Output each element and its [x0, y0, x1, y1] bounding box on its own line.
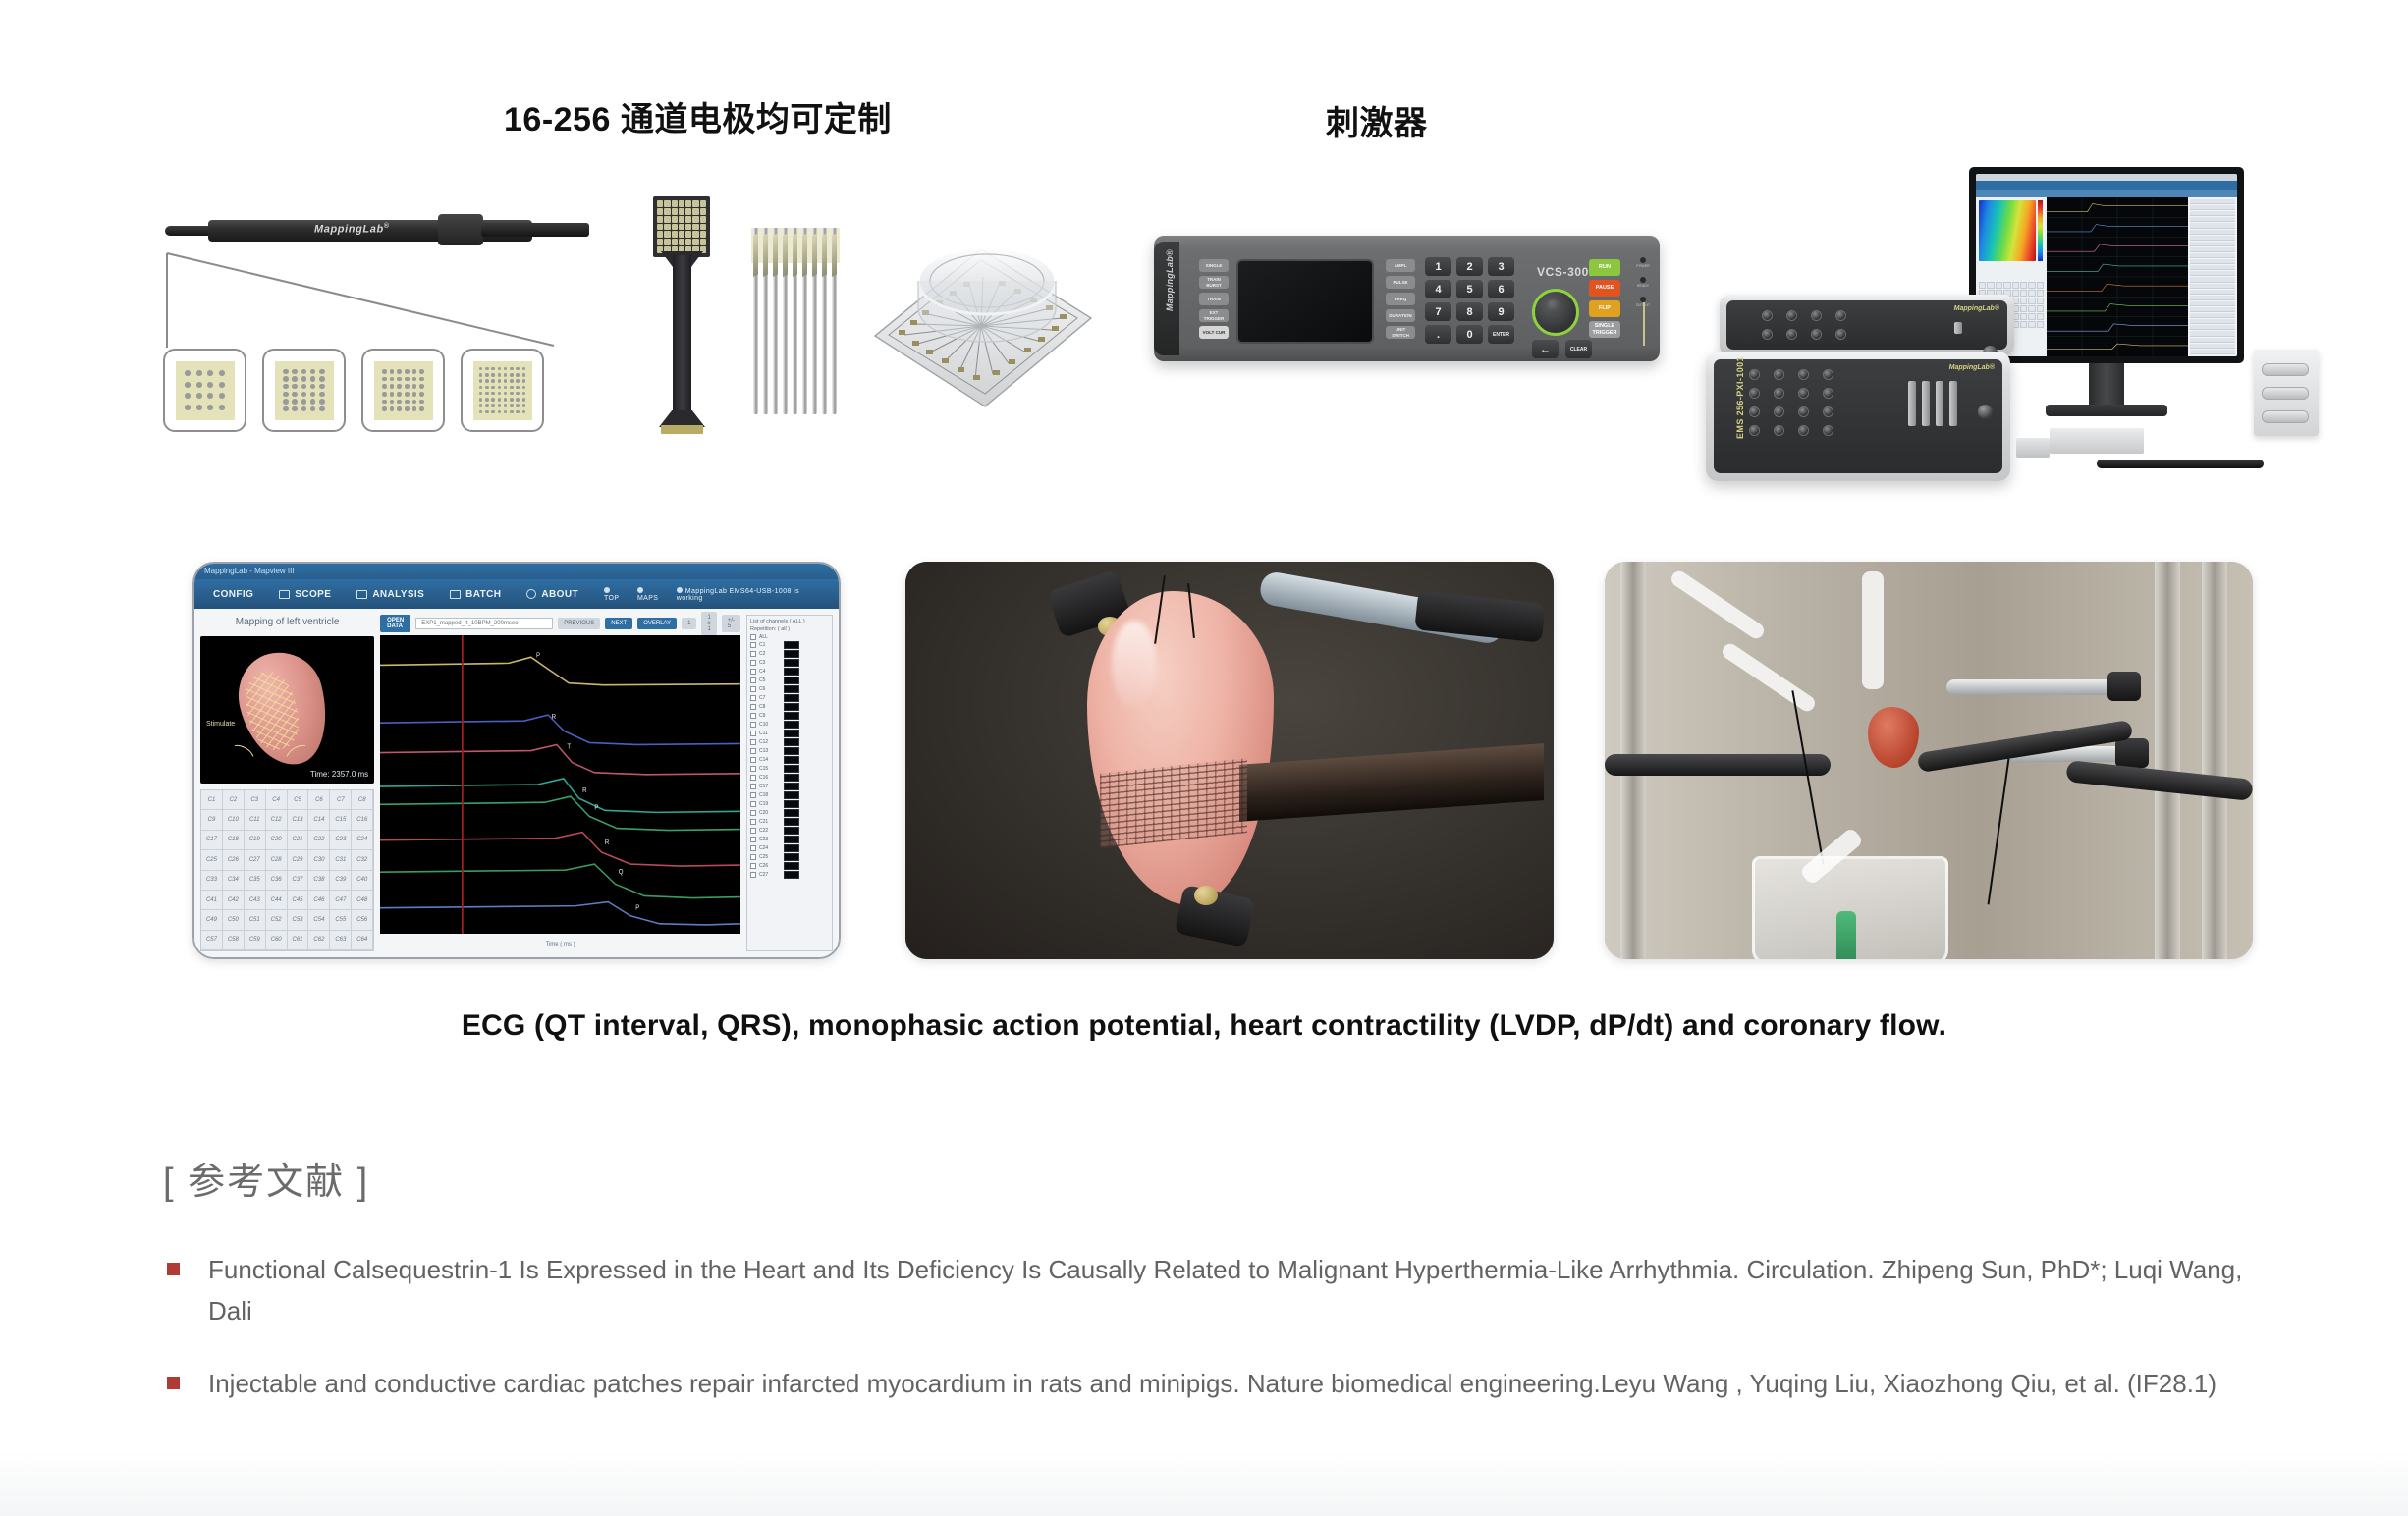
frame-post-right [2155, 562, 2180, 959]
channel-row[interactable]: C23 [750, 836, 829, 843]
grid-channel-cell[interactable]: C53 [288, 910, 309, 930]
checkbox-icon[interactable] [750, 837, 756, 842]
electrode-dot [283, 406, 289, 412]
amplifier-input-port[interactable] [1835, 329, 1846, 340]
software-status-area: TOP MAPS MappingLab EMS64-USB-1008 is wo… [604, 587, 825, 602]
rod-clamp-lower[interactable] [2115, 738, 2149, 768]
array-grid-64 [473, 361, 532, 420]
stimulator-param-button[interactable]: DURATION [1386, 309, 1415, 322]
channel-row[interactable]: C17 [750, 783, 829, 790]
amplifier-top-brand-text: MappingLab [1954, 305, 1995, 312]
isolated-heart-electrode-photo[interactable] [905, 562, 1554, 959]
electrode-dot [292, 384, 298, 390]
next-button[interactable]: NEXT [605, 618, 632, 629]
monitor-body [1976, 197, 2237, 356]
electrode-dot [491, 398, 495, 402]
checkbox-icon[interactable] [750, 757, 756, 763]
amplifier-main-slots [1908, 381, 1957, 426]
grid-channel-cell[interactable]: C47 [330, 891, 352, 910]
clear-button[interactable]: CLEAR [1565, 340, 1592, 358]
amplifier-input-port[interactable] [1823, 388, 1833, 399]
paddle-electrode-dot [679, 200, 684, 207]
monitor-channel-row [2190, 350, 2235, 354]
flexible-electrode-array-on-heart [1100, 758, 1247, 848]
amplifier-input-port[interactable] [1835, 310, 1846, 321]
application-image-row: MappingLab - Mapview III CONFIG SCOPE AN… [0, 562, 2408, 964]
electrode-dot [510, 398, 514, 402]
checkbox-icon[interactable] [750, 784, 756, 789]
stimulator-mode-button[interactable]: TRAIN BURST [1199, 276, 1229, 289]
grid-channel-cell[interactable]: C30 [308, 850, 330, 870]
electrode-dot [516, 392, 520, 396]
monitor-grid-cell [2037, 305, 2044, 312]
lead-marker [223, 740, 259, 774]
channel-row[interactable]: C5 [750, 677, 829, 684]
checkbox-icon[interactable] [750, 766, 756, 772]
stimulator-slider-track[interactable] [1643, 302, 1645, 346]
grid-channel-cell[interactable]: C15 [330, 810, 352, 830]
grid-channel-cell[interactable]: C7 [330, 790, 352, 810]
monitor-grid-cell [2020, 290, 2027, 297]
channel-thumbnail [784, 650, 799, 658]
reference-item: Functional Calsequestrin-1 Is Expressed … [163, 1249, 2284, 1331]
menu-label: SCOPE [295, 589, 331, 600]
amplifier-input-port[interactable] [1774, 388, 1784, 399]
checkbox-icon[interactable] [750, 739, 756, 745]
stimulator-param-button[interactable]: AMPL [1386, 259, 1415, 272]
channel-row[interactable]: C4 [750, 668, 829, 676]
monitor-grid-cell [2020, 298, 2027, 304]
grid-channel-cell[interactable]: C21 [288, 831, 309, 850]
amplifier-input-port[interactable] [1798, 369, 1809, 380]
stimulator-run-button[interactable]: RUN [1589, 259, 1620, 276]
paddle-electrode-dot [657, 231, 663, 238]
checkbox-icon[interactable] [750, 677, 756, 683]
checkbox-icon[interactable] [750, 722, 756, 728]
grid-channel-cell[interactable]: C27 [245, 850, 266, 870]
electrode-dot [516, 379, 520, 383]
grid-channel-cell[interactable]: C9 [201, 810, 223, 830]
grid-channel-cell[interactable]: C37 [288, 871, 309, 891]
channel-row[interactable]: C10 [750, 721, 829, 729]
paddle-electrode-dot [700, 200, 706, 207]
channel-row[interactable]: C12 [750, 738, 829, 746]
grid-channel-cell[interactable]: C55 [330, 910, 352, 930]
grid-channel-cell[interactable]: C41 [201, 891, 223, 910]
software-channel-panel: List of channels ( ALL ) Repetition: ( a… [746, 615, 833, 951]
electrode-dot [510, 373, 514, 377]
checkbox-icon[interactable] [750, 775, 756, 781]
checkbox-icon[interactable] [750, 731, 756, 736]
monitor-traces-svg [2047, 197, 2188, 356]
keypad-key-dot[interactable]: . [1425, 325, 1451, 344]
checkbox-icon[interactable] [750, 854, 756, 860]
grid-channel-cell[interactable]: C48 [352, 891, 373, 910]
amplifier-input-port[interactable] [1749, 406, 1760, 417]
stimulator-single-trigger-button[interactable]: SINGLE TRIGGER [1589, 321, 1620, 338]
time-readout: Time: 2357.0 ms [310, 770, 368, 779]
perfusion-tube-left [1669, 568, 1767, 642]
channel-row[interactable]: C24 [750, 844, 829, 852]
page-value[interactable]: 1 [682, 618, 696, 629]
grid-channel-cell[interactable]: C17 [201, 831, 223, 850]
grid-channel-cell[interactable]: C24 [352, 831, 373, 850]
waveform-plot[interactable]: PRT RPR QP [380, 635, 740, 934]
grid-channel-cell[interactable]: C14 [308, 810, 330, 830]
grid-channel-cell[interactable]: C22 [308, 831, 330, 850]
checkbox-icon[interactable] [750, 651, 756, 657]
grid-channel-cell[interactable]: C18 [223, 831, 245, 850]
grid-channel-cell[interactable]: C25 [201, 850, 223, 870]
channel-thumbnail [784, 703, 799, 711]
checkbox-icon[interactable] [750, 828, 756, 834]
channel-row[interactable]: C8 [750, 703, 829, 711]
needle-electrode [822, 228, 827, 414]
paddle-electrode-dot [692, 208, 698, 215]
menu-item-about[interactable]: ABOUT [526, 589, 578, 600]
rig-photo-scene [1605, 562, 2253, 959]
scale-value[interactable]: 1 x 1 [701, 612, 716, 635]
amplifier-input-port[interactable] [1749, 369, 1760, 380]
electrode-dot [397, 377, 402, 382]
menu-item-scope[interactable]: SCOPE [279, 589, 331, 600]
amplifier-input-port[interactable] [1798, 388, 1809, 399]
keypad-key-8[interactable]: 8 [1456, 302, 1483, 321]
monitor-screen [1976, 174, 2237, 356]
electrode-dot [319, 376, 325, 382]
amplifier-input-port[interactable] [1786, 310, 1797, 321]
grid-channel-cell[interactable]: C19 [245, 831, 266, 850]
paddle-electrode-dot [679, 224, 684, 231]
paddle-electrode-dot [672, 200, 678, 207]
grid-channel-cell[interactable]: C28 [266, 850, 288, 870]
amplifier-input-port[interactable] [1823, 406, 1833, 417]
monitor-grid-cell [2003, 282, 2010, 289]
amplifier-input-port[interactable] [1774, 369, 1784, 380]
stimulator-param-button[interactable]: FREQ [1386, 293, 1415, 305]
grid-channel-cell[interactable]: C42 [223, 891, 245, 910]
array-grid-30 [275, 361, 334, 420]
channel-row[interactable]: C26 [750, 862, 829, 870]
paddle-electrode-dot [672, 216, 678, 223]
checkbox-icon[interactable] [750, 845, 756, 851]
amplifier-input-port[interactable] [1823, 369, 1833, 380]
channel-label: C23 [759, 837, 781, 842]
support-bar-left [1605, 754, 1831, 776]
electrode-array-tile[interactable] [163, 349, 246, 432]
monitor-titlebar [1976, 174, 2237, 181]
rod-clamp-upper[interactable] [2107, 672, 2141, 701]
electrode-dot [397, 400, 402, 405]
electrode-dot [419, 377, 424, 382]
checkbox-icon[interactable] [750, 642, 756, 648]
grid-channel-cell[interactable]: C3 [245, 790, 266, 810]
grid-channel-cell[interactable]: C4 [266, 790, 288, 810]
amplifier-input-port[interactable] [1798, 406, 1809, 417]
channel-row[interactable]: C18 [750, 791, 829, 799]
amplifier-input-port[interactable] [1774, 425, 1784, 436]
open-data-button[interactable]: OPEN DATA [380, 615, 410, 632]
paddle-electrode-dot [685, 239, 691, 245]
langendorff-perfusion-rig-photo[interactable] [1605, 562, 2253, 959]
stimulator-mode-button[interactable]: EXT TRIGGER [1199, 309, 1229, 322]
stimulator-param-button[interactable]: PULSE [1386, 276, 1415, 289]
software-center-panel: OPEN DATA EXP1_mapped_rt_10BPM_200msec P… [380, 615, 740, 951]
grid-channel-cell[interactable]: C39 [330, 871, 352, 891]
checkbox-icon[interactable] [750, 686, 756, 692]
grid-channel-cell[interactable]: C62 [308, 931, 330, 950]
channel-row[interactable]: C1 [750, 641, 829, 649]
amplifier-input-port[interactable] [1823, 425, 1833, 436]
grid-channel-cell[interactable]: C64 [352, 931, 373, 950]
stimulator-jog-dial[interactable] [1532, 289, 1579, 336]
accessory-connector [2262, 410, 2309, 423]
file-path-field[interactable]: EXP1_mapped_rt_10BPM_200msec [415, 618, 553, 629]
menu-item-batch[interactable]: BATCH [450, 589, 501, 600]
stimulator-mode-button[interactable]: TRAIN [1199, 293, 1229, 305]
menu-item-analysis[interactable]: ANALYSIS [356, 589, 424, 600]
channel-checkbox-list[interactable]: ALLC1C2C3C4C5C6C7C8C9C10C11C12C13C14C15C… [750, 634, 829, 879]
channel-row[interactable]: C22 [750, 827, 829, 835]
channel-row[interactable]: C11 [750, 730, 829, 737]
grid-channel-cell[interactable]: C2 [223, 790, 245, 810]
electrode-dot [292, 369, 298, 375]
amplifier-input-port[interactable] [1762, 310, 1773, 321]
grid-channel-cell[interactable]: C60 [266, 931, 288, 950]
amplifier-input-port[interactable] [1786, 329, 1797, 340]
electrode-dot [283, 392, 289, 398]
channel-thumbnail [784, 712, 799, 720]
amplifier-input-port[interactable] [1798, 425, 1809, 436]
checkbox-icon[interactable] [750, 810, 756, 816]
grid-channel-cell[interactable]: C51 [245, 910, 266, 930]
electrode-dot [405, 406, 410, 411]
electrode-array-tile[interactable] [461, 349, 544, 432]
monitor-channel-row [2190, 236, 2235, 241]
stimulator-flip-button[interactable]: FLIP [1589, 300, 1620, 317]
electrode-dot [196, 382, 202, 388]
needle-electrode [832, 228, 837, 414]
measurement-caption: ECG (QT interval, QRS), monophasic actio… [0, 1009, 2408, 1043]
amplifier-input-port[interactable] [1749, 425, 1760, 436]
monitor-waveform-pane [2047, 197, 2188, 356]
checkbox-icon[interactable] [750, 713, 756, 719]
grid-channel-cell[interactable]: C54 [308, 910, 330, 930]
monitor-grid-cell [1996, 282, 2002, 289]
gain-value[interactable]: +/- 5 [722, 615, 740, 632]
channel-row[interactable]: C20 [750, 809, 829, 817]
monitor-grid-cell [2028, 298, 2035, 304]
electrode-dot [522, 386, 526, 390]
amplifier-top-brand: MappingLab® [1954, 305, 1999, 312]
mapping-software-screenshot[interactable]: MappingLab - Mapview III CONFIG SCOPE AN… [192, 562, 841, 959]
channel-thumbnail [784, 853, 799, 861]
keypad-key-1[interactable]: 1 [1425, 257, 1451, 276]
grid-channel-cell[interactable]: C40 [352, 871, 373, 891]
checkbox-icon[interactable] [750, 801, 756, 807]
channel-row[interactable]: C19 [750, 800, 829, 808]
amplifier-main-knob[interactable] [1978, 405, 1993, 419]
grid-channel-cell[interactable]: C23 [330, 831, 352, 850]
checkbox-icon[interactable] [750, 634, 756, 640]
paddle-electrode-dot [685, 231, 691, 238]
channel-row[interactable]: C9 [750, 712, 829, 720]
channel-row[interactable]: C16 [750, 774, 829, 782]
amplifier-slot [1936, 381, 1943, 426]
electrode-dot [185, 405, 191, 410]
paddle-electrode-dot [657, 208, 663, 215]
electrode-dot [310, 369, 316, 375]
grid-channel-cell[interactable]: C61 [288, 931, 309, 950]
keypad-key-5[interactable]: 5 [1456, 280, 1483, 298]
software-titlebar: MappingLab - Mapview III [194, 564, 839, 579]
checkbox-icon[interactable] [750, 872, 756, 878]
grid-channel-cell[interactable]: C16 [352, 810, 373, 830]
stimulator-param-button[interactable]: UNIT SWITCH [1386, 326, 1415, 339]
status-top[interactable]: TOP [604, 587, 628, 602]
channel-grid-table[interactable]: C1C2C3C4C5C6C7C8C9C10C11C12C13C14C15C16C… [200, 789, 374, 951]
checkbox-icon[interactable] [750, 748, 756, 754]
grid-channel-cell[interactable]: C20 [266, 831, 288, 850]
grid-channel-cell[interactable]: C43 [245, 891, 266, 910]
channel-row[interactable]: C14 [750, 756, 829, 764]
checkbox-icon[interactable] [750, 863, 756, 869]
electrode-dot [196, 393, 202, 399]
stimulator-mode-button[interactable]: SINGLE [1199, 259, 1229, 272]
previous-button[interactable]: PREVIOUS [558, 618, 600, 629]
grid-channel-cell[interactable]: C44 [266, 891, 288, 910]
grid-channel-cell[interactable]: C31 [330, 850, 352, 870]
keypad-key-7[interactable]: 7 [1425, 302, 1451, 321]
channel-row[interactable]: C3 [750, 659, 829, 667]
grid-channel-cell[interactable]: C49 [201, 910, 223, 930]
grid-channel-cell[interactable]: C52 [266, 910, 288, 930]
electrode-dot [310, 376, 316, 382]
status-device: MappingLab EMS64-USB-1008 is working [677, 587, 825, 602]
checkbox-icon[interactable] [750, 792, 756, 798]
electrode-dot [522, 410, 526, 414]
keypad-key-3[interactable]: 3 [1488, 257, 1514, 276]
status-maps[interactable]: MAPS [637, 587, 667, 602]
grid-channel-cell[interactable]: C35 [245, 871, 266, 891]
heading-electrodes: 16-256 通道电极均可定制 [504, 92, 892, 140]
amplifier-input-port[interactable] [1749, 388, 1760, 399]
grid-channel-cell[interactable]: C36 [266, 871, 288, 891]
channel-row[interactable]: C15 [750, 765, 829, 773]
grid-channel-cell[interactable]: C56 [352, 910, 373, 930]
channel-label: C12 [759, 739, 781, 745]
checkbox-icon[interactable] [750, 704, 756, 710]
amplifier-input-port[interactable] [1762, 329, 1773, 340]
electrode-dot [516, 373, 520, 377]
grid-channel-cell[interactable]: C13 [288, 810, 309, 830]
grid-channel-cell[interactable]: C32 [352, 850, 373, 870]
monitor-channel-row [2190, 331, 2235, 336]
electrode-array-tile[interactable] [361, 349, 445, 432]
channel-row-all[interactable]: ALL [750, 634, 829, 640]
svg-text:Q: Q [619, 869, 624, 876]
electrode-dot [390, 400, 395, 405]
software-left-panel: Mapping of left ventricle Stimulate Time… [200, 615, 374, 951]
stimulator-pause-button[interactable]: PAUSE [1589, 280, 1620, 297]
backspace-button[interactable]: ← [1532, 340, 1559, 358]
paddle-electrode-dot [664, 208, 670, 215]
grid-channel-cell[interactable]: C46 [308, 891, 330, 910]
checkbox-icon[interactable] [750, 660, 756, 666]
checkbox-icon[interactable] [750, 669, 756, 675]
grid-channel-cell[interactable]: C38 [308, 871, 330, 891]
needle-electrode [793, 228, 797, 414]
grid-channel-cell[interactable]: C6 [308, 790, 330, 810]
heart-3d-view[interactable]: Stimulate Time: 2357.0 ms [200, 636, 374, 784]
grid-channel-cell[interactable]: C10 [223, 810, 245, 830]
electrode-array-tile[interactable] [262, 349, 346, 432]
keypad-key-9[interactable]: 9 [1488, 302, 1514, 321]
channel-row[interactable]: C2 [750, 650, 829, 658]
grid-channel-cell[interactable]: C63 [330, 931, 352, 950]
electrode-dot [491, 379, 495, 383]
stimulator-mode-button[interactable]: VOLT CUR [1199, 326, 1229, 339]
keypad-key-0[interactable]: 0 [1456, 325, 1483, 344]
channel-row[interactable]: C27 [750, 871, 829, 879]
grid-channel-cell[interactable]: C26 [223, 850, 245, 870]
grid-channel-cell[interactable]: C45 [288, 891, 309, 910]
electrode-dot [405, 384, 410, 389]
amplifier-main-ports [1749, 369, 1833, 436]
grid-channel-cell[interactable]: C58 [223, 931, 245, 950]
channel-row[interactable]: C6 [750, 685, 829, 693]
grid-channel-cell[interactable]: C1 [201, 790, 223, 810]
channel-label: C22 [759, 828, 781, 834]
amplifier-input-port[interactable] [1811, 329, 1822, 340]
amplifier-top-unit: MappingLab® [1720, 295, 2014, 355]
paddle-electrode-dot [700, 239, 706, 245]
keypad-key-enter[interactable]: ENTER [1488, 325, 1514, 344]
keypad-key-4[interactable]: 4 [1425, 280, 1451, 298]
paddle-electrode-dot [700, 216, 706, 223]
electrode-dot [419, 392, 424, 397]
grid-channel-cell[interactable]: C59 [245, 931, 266, 950]
grid-channel-cell[interactable]: C34 [223, 871, 245, 891]
checkbox-icon[interactable] [750, 695, 756, 701]
electrode-dot [491, 373, 495, 377]
led-label: READY [1637, 284, 1649, 288]
electrode-dot [498, 379, 502, 383]
overlay-button[interactable]: OVERLAY [637, 618, 677, 629]
amplifier-input-port[interactable] [1774, 406, 1784, 417]
grid-channel-cell[interactable]: C29 [288, 850, 309, 870]
channel-row[interactable]: C7 [750, 694, 829, 702]
amplifier-input-port[interactable] [1811, 310, 1822, 321]
needle-electrode [773, 228, 778, 414]
grid-channel-cell[interactable]: C8 [352, 790, 373, 810]
channel-thumbnail [784, 765, 799, 773]
grid-channel-cell[interactable]: C33 [201, 871, 223, 891]
channel-row[interactable]: C21 [750, 818, 829, 826]
keypad-key-6[interactable]: 6 [1488, 280, 1514, 298]
channel-row[interactable]: C25 [750, 853, 829, 861]
keypad-key-2[interactable]: 2 [1456, 257, 1483, 276]
grid-channel-cell[interactable]: C57 [201, 931, 223, 950]
menu-item-config[interactable]: CONFIG [208, 589, 253, 600]
checkbox-icon[interactable] [750, 819, 756, 825]
grid-channel-cell[interactable]: C50 [223, 910, 245, 930]
monitor-stand-base [2046, 405, 2167, 416]
grid-channel-cell[interactable]: C12 [266, 810, 288, 830]
grid-channel-cell[interactable]: C11 [245, 810, 266, 830]
channel-row[interactable]: C13 [750, 747, 829, 755]
grid-channel-cell[interactable]: C5 [288, 790, 309, 810]
